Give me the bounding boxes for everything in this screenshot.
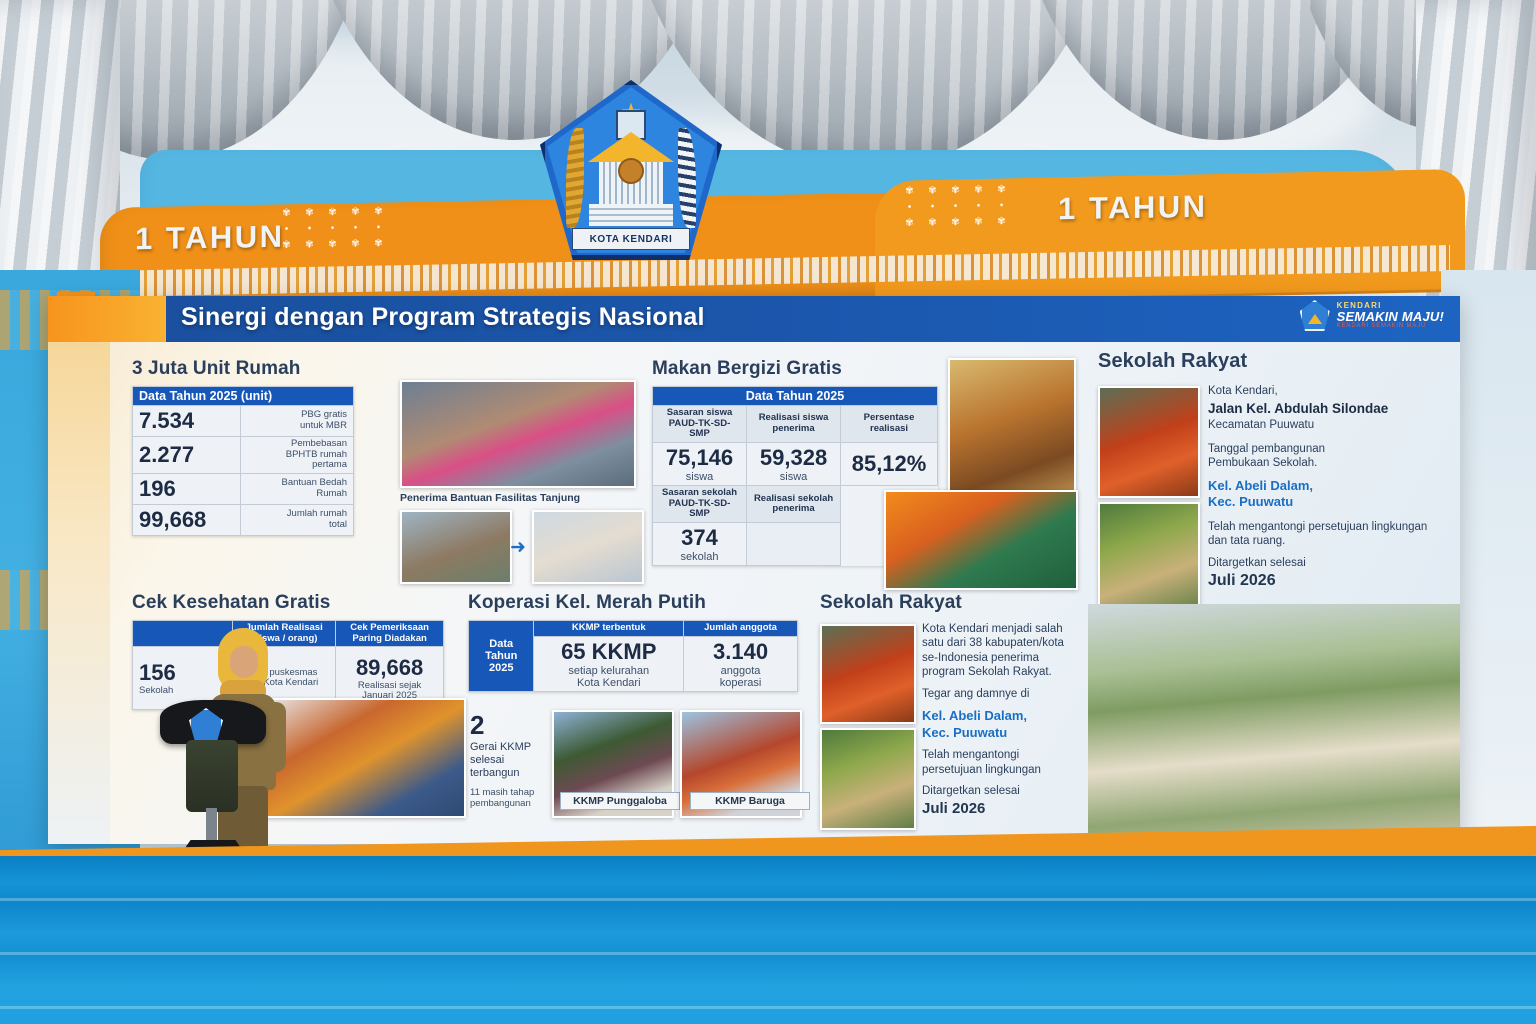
section-sekolah-rakyat-bawah: Sekolah Rakyat Kota Kendari menjadi sala… <box>820 592 1080 620</box>
section-sekolah-rakyat-kanan: Sekolah Rakyat Kota Kendari, Jalan Kel. … <box>1098 350 1450 379</box>
brand-line-2: SEMAKIN MAJU! <box>1337 310 1444 323</box>
paragraph-3: Telah mengantongi persetujuan lingkungan <box>922 748 1080 777</box>
section-title: Sekolah Rakyat <box>1098 350 1450 373</box>
rumah-table: Data Tahun 2025 (unit) 7.534 PBG gratis … <box>132 386 354 536</box>
paragraph-1: Tanggal pembangunan Pembukaan Sekolah. <box>1208 442 1444 471</box>
section-koperasi-merah-putih: Koperasi Kel. Merah Putih Data Tahun 202… <box>468 592 818 692</box>
stage-step-edge <box>0 952 1536 955</box>
side-label: Data Tahun 2025 <box>469 621 534 692</box>
cell-value: 85,12% <box>847 451 931 477</box>
gerai-note: 11 masih tahap pembangunan <box>470 787 544 810</box>
brand-emblem-icon <box>1300 300 1330 331</box>
cell-value: 196 <box>139 476 176 501</box>
table-row: 7.534 PBG gratis untuk MBR <box>133 406 354 437</box>
stage-floor <box>0 856 1536 1024</box>
table-row: Data Tahun 2025 KKMP terbentuk Jumlah an… <box>469 621 798 637</box>
cell-unit: siswa <box>753 471 834 483</box>
table-row: Sasaran siswa PAUD-TK-SD-SMP Realisasi s… <box>653 406 938 443</box>
cell-value: 374 <box>659 525 740 551</box>
sekolah-bawah-text: Kota Kendari menjadi salah satu dari 38 … <box>922 622 1080 826</box>
brand-line-3: KENDARI SEMAKIN MAJU <box>1337 323 1444 329</box>
photo-rencana-sekolah <box>1098 502 1200 614</box>
rumah-table-header: Data Tahun 2025 (unit) <box>133 387 354 406</box>
table-row: 2.277 Pembebasan BPHTB rumah pertama <box>133 437 354 474</box>
emblem-ribbon-label: KOTA KENDARI <box>572 228 690 250</box>
highlight-location: Kel. Abeli Dalam, Kec. Puuwatu <box>1208 478 1444 511</box>
photo-gedung-sekolah-rakyat <box>1088 604 1460 844</box>
banner-right-1-tahun: 1 TAHUN <box>1058 189 1208 228</box>
highlight-location: Kel. Abeli Dalam, Kec. Puuwatu <box>922 708 1080 741</box>
gerai-kkmp-stat: 2 Gerai KKMP selesai terbangun 11 masih … <box>470 710 544 809</box>
ornament-dots-left: ✾✾✾✾✾ ••••• ✾✾✾✾✾ <box>282 207 383 250</box>
podium-stem <box>206 808 217 844</box>
cell-value: 65 KKMP <box>540 639 677 665</box>
cell-label: Pembebasan BPHTB rumah pertama <box>241 437 354 474</box>
photo-caption: Penerima Bantuan Fasilitas Tanjung <box>400 492 580 504</box>
address-line-1: Kota Kendari, <box>1208 384 1444 398</box>
table-row: 99,668 Jumlah rumah total <box>133 504 354 535</box>
slide-header-bar: Sinergi dengan Program Strategis Nasiona… <box>48 296 1460 342</box>
gerai-count: 2 <box>470 710 544 741</box>
table-row: Jumlah Realisasi (siswa / orang) Cek Pem… <box>133 621 444 647</box>
col-header: Realisasi sekolah penerima <box>747 486 841 523</box>
col-header: Jumlah anggota <box>684 621 798 637</box>
paragraph-2: Telah mengantongi persetujuan lingkungan… <box>1208 520 1444 549</box>
address-line-3: Kecamatan Puuwatu <box>1208 418 1444 432</box>
banner-left-1-tahun: 1 TAHUN <box>135 219 285 258</box>
ornament-dots-right: ✾✾✾✾✾ ••••• ✾✾✾✾✾ <box>905 185 1006 228</box>
paragraph-4: Ditargetkan selesai <box>922 784 1080 798</box>
temple-steps <box>589 204 673 226</box>
person-face <box>230 646 258 678</box>
section-title: Cek Kesehatan Gratis <box>132 592 462 614</box>
photo-kegiatan-mbg <box>884 490 1078 590</box>
photo-cek-kesehatan <box>262 698 466 818</box>
stage-step-edge <box>0 1006 1536 1009</box>
photo-caption: KKMP Punggaloba <box>560 792 680 810</box>
target-date: Juli 2026 <box>1208 571 1444 591</box>
stage-step-edge <box>0 898 1536 901</box>
cell-label: Bantuan Bedah Rumah <box>241 473 354 504</box>
cell-label: setiap kelurahan Kota Kendari <box>540 665 677 690</box>
cell-value: 3.140 <box>690 639 791 665</box>
cell-value: 75,146 <box>659 445 740 471</box>
brand-wordmark: KENDARI SEMAKIN MAJU! KENDARI SEMAKIN MA… <box>1337 302 1444 330</box>
photo-walikota <box>948 358 1076 512</box>
koperasi-table: Data Tahun 2025 KKMP terbentuk Jumlah an… <box>468 620 798 692</box>
cell-label: anggota koperasi <box>690 665 791 690</box>
photo-officials <box>400 380 636 488</box>
cell-value: 7.534 <box>139 408 194 433</box>
table-row: 75,146 siswa 59,328 siswa 85,12% <box>653 442 938 485</box>
gerai-label: Gerai KKMP selesai terbangun <box>470 741 544 781</box>
kota-kendari-emblem: ★ KOTA KENDARI <box>540 80 722 260</box>
venue-stage-photo: 1 TAHUN 1 TAHUN ✾✾✾✾✾ ••••• ✾✾✾✾✾ ✾✾✾✾✾ … <box>0 0 1536 1024</box>
photo-rumah-sebelum <box>400 510 512 584</box>
section-title: 3 Juta Unit Rumah <box>132 358 632 380</box>
photo-rumah-sesudah <box>532 510 644 584</box>
kesehatan-table: Jumlah Realisasi (siswa / orang) Cek Pem… <box>132 620 444 710</box>
section-cek-kesehatan-gratis: Cek Kesehatan Gratis Jumlah Realisasi (s… <box>132 592 462 710</box>
paragraph-1: Kota Kendari menjadi salah satu dari 38 … <box>922 622 1080 680</box>
table-header-row: Data Tahun 2025 <box>653 387 938 406</box>
cell-label: Jumlah rumah total <box>241 504 354 535</box>
col-header: Persentase realisasi <box>841 406 938 443</box>
photo-caption: KKMP Baruga <box>690 792 810 810</box>
table-header-row: Data Tahun 2025 (unit) <box>133 387 354 406</box>
target-date: Juli 2026 <box>922 800 1080 819</box>
cell-label: PBG gratis untuk MBR <box>241 406 354 437</box>
mbg-table-header: Data Tahun 2025 <box>653 387 938 406</box>
photo-lahan <box>820 624 916 724</box>
photo-denah <box>820 728 916 830</box>
section-makan-bergizi-gratis: Makan Bergizi Gratis Data Tahun 2025 Sas… <box>652 358 1082 566</box>
podium-emblem-icon <box>189 708 223 742</box>
podium-top <box>160 700 266 744</box>
cell-value: 59,328 <box>753 445 834 471</box>
speaker-podium <box>160 700 266 860</box>
address-line-2: Jalan Kel. Abdulah Silondae <box>1208 400 1444 417</box>
sekolah-kanan-text: Kota Kendari, Jalan Kel. Abdulah Silonda… <box>1208 384 1444 598</box>
col-header: Realisasi siswa penerima <box>747 406 841 443</box>
podium-body <box>186 740 238 812</box>
col-header: Sasaran sekolah PAUD-TK-SD-SMP <box>653 486 747 523</box>
col-header: Cek Pemeriksaan Paring Diadakan <box>336 621 444 647</box>
photo-lahan-sekolah <box>1098 386 1200 498</box>
arrow-right-icon: ➜ <box>510 536 526 559</box>
gong-icon <box>618 158 644 184</box>
cell-unit: sekolah <box>659 551 740 563</box>
section-3-juta-unit-rumah: 3 Juta Unit Rumah Data Tahun 2025 (unit)… <box>132 358 632 536</box>
cell-value: 2.277 <box>139 442 194 467</box>
slide-left-edge-gradient <box>48 342 110 844</box>
col-header: KKMP terbentuk <box>534 621 684 637</box>
page-title: Sinergi dengan Program Strategis Nasiona… <box>181 303 705 332</box>
slide-header-accent <box>48 296 166 342</box>
col-header: Sasaran siswa PAUD-TK-SD-SMP <box>653 406 747 443</box>
table-row: 196 Bantuan Bedah Rumah <box>133 473 354 504</box>
paragraph-2: Tegar ang damnye di <box>922 687 1080 701</box>
paragraph-3: Ditargetkan selesai <box>1208 556 1444 570</box>
cell-value: 99,668 <box>139 507 206 532</box>
kendari-semakin-maju-logo: KENDARI SEMAKIN MAJU! KENDARI SEMAKIN MA… <box>1300 300 1444 331</box>
cell-unit: siswa <box>659 471 740 483</box>
section-title: Sekolah Rakyat <box>820 592 1080 614</box>
section-title: Koperasi Kel. Merah Putih <box>468 592 818 614</box>
cell-value: 89,668 <box>342 655 437 681</box>
